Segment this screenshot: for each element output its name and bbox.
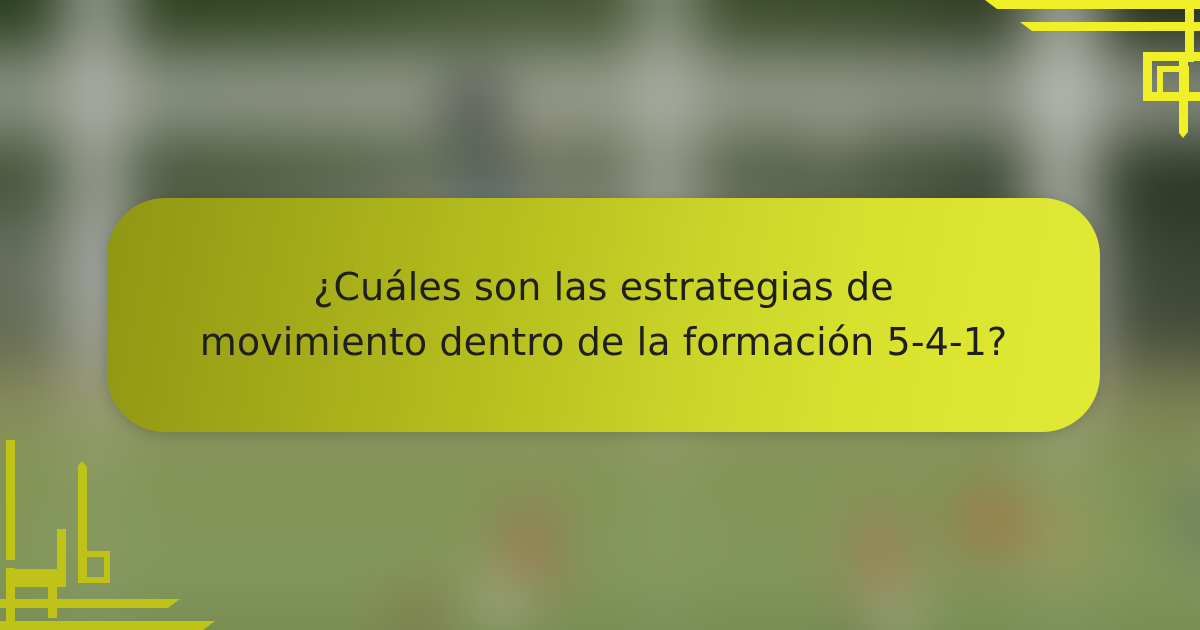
ornament-rule-upper [985,0,1200,9]
corner-ornament-bottom-left [0,430,215,630]
ornament-stem [1179,60,1188,138]
ornament-rule-upper [0,599,180,608]
ornament-rule-lower [0,621,215,630]
ornament-rule-lower [1020,22,1200,31]
corner-ornament-top-right [985,0,1200,140]
question-text: ¿Cuáles son las estrategias de movimient… [174,260,1034,370]
ornament-loop-right [48,569,57,618]
poster-canvas: ¿Cuáles son las estrategias de movimient… [0,0,1200,630]
question-card: ¿Cuáles son las estrategias de movimient… [107,198,1100,432]
ornament-edge-bar-tall [6,440,15,560]
ornament-stem [78,461,87,579]
ornament-loop-bottom [6,578,66,587]
